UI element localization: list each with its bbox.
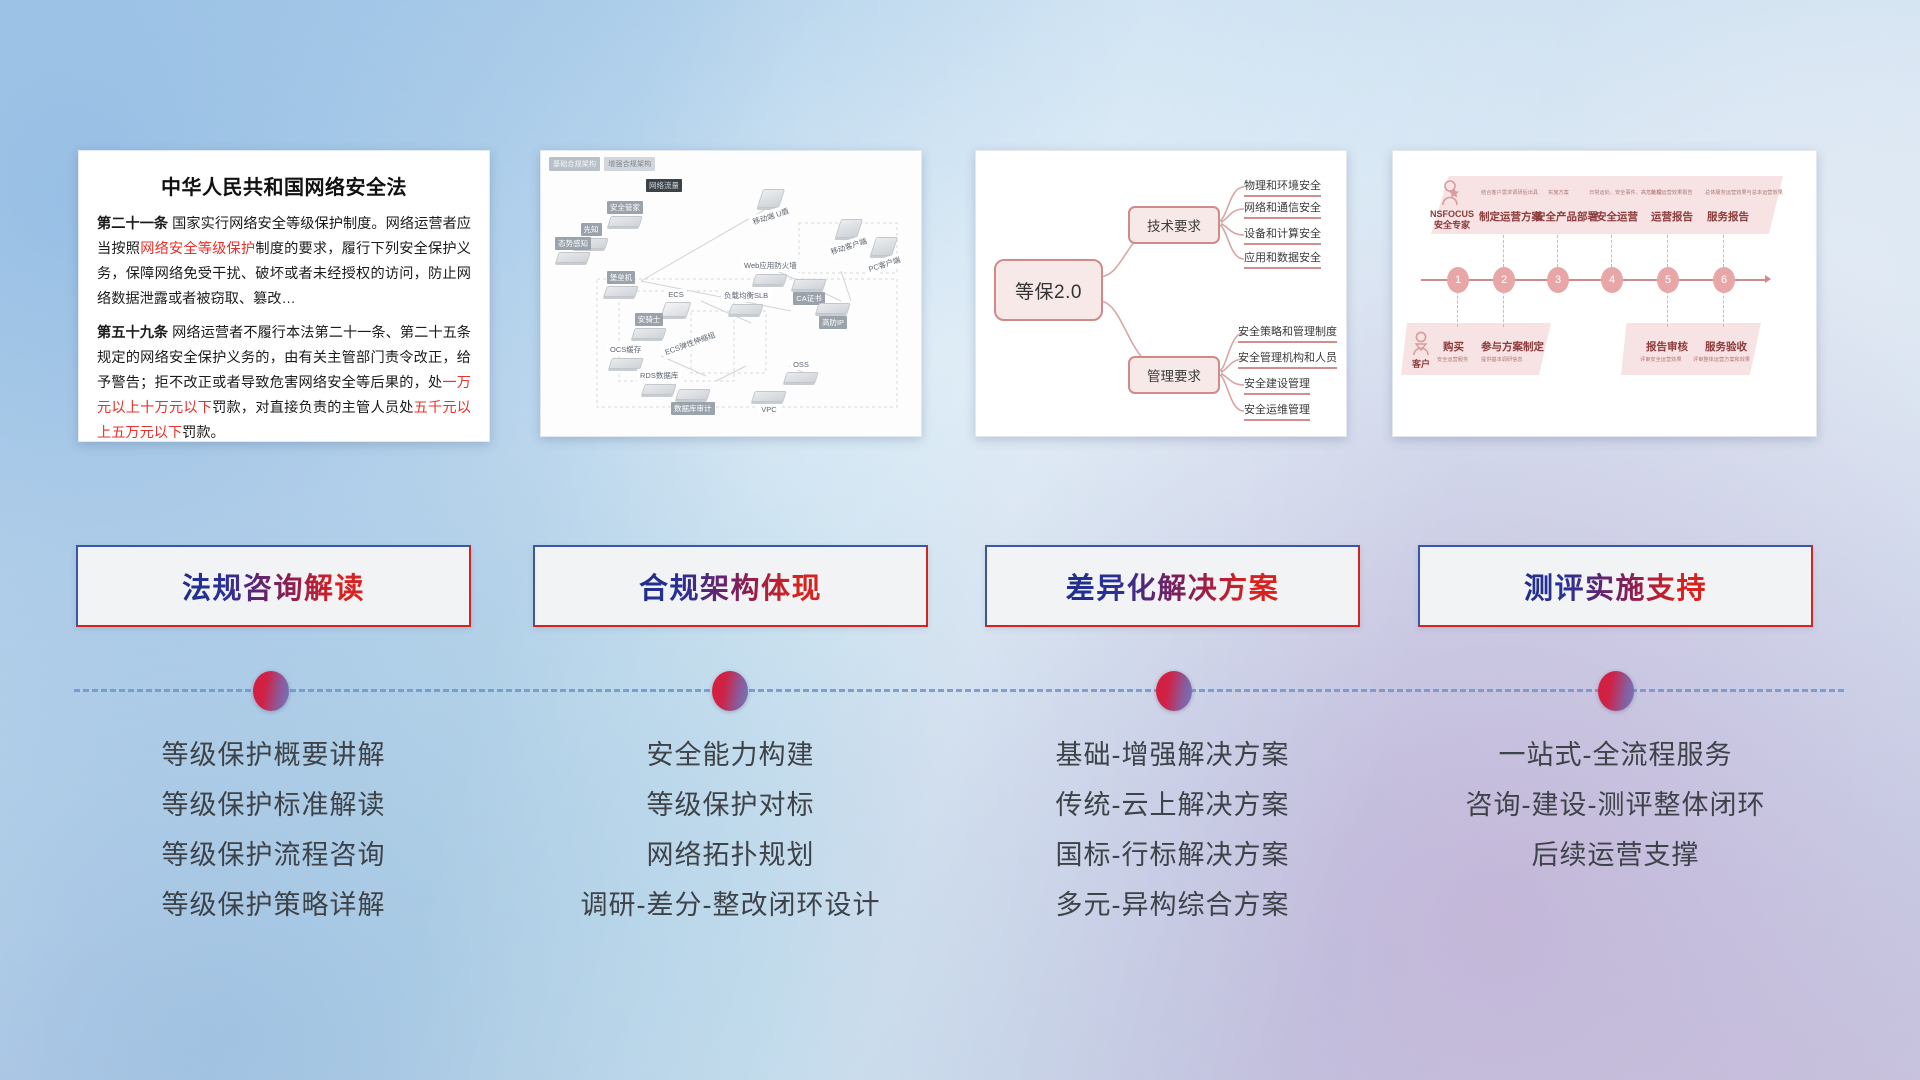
arch-icon-waf (753, 274, 789, 285)
section-heading-differentiated-solution[interactable]: 差异化解决方案 (985, 545, 1360, 627)
mindmap-branch-technical: 技术要求 (1128, 206, 1220, 244)
section-heading-text-3: 差异化解决方案 (1066, 565, 1280, 607)
list-item: 网络拓扑规划 (533, 830, 928, 880)
nsfocus-step-sub-6: 总体服务运营效果与总本运营效果 (1705, 189, 1783, 196)
item-list-regulation-consulting: 等级保护概要讲解 等级保护标准解读 等级保护流程咨询 等级保护策略详解 (76, 730, 471, 930)
list-item: 等级保护流程咨询 (76, 830, 471, 880)
nsfocus-bottom-title-1: 购买 (1443, 339, 1464, 354)
card-cybersecurity-law[interactable]: 中华人民共和国网络安全法 第二十一条 国家实行网络安全等级保护制度。网络运营者应… (78, 150, 490, 442)
nsfocus-expert-band (1431, 176, 1783, 234)
item-list-differentiated-solution: 基础-增强解决方案 传统-云上解决方案 国标-行标解决方案 多元-异构综合方案 (985, 730, 1360, 930)
nsfocus-bottom-title-2: 参与方案制定 (1481, 339, 1544, 354)
nsfocus-step-title-3: 安全产品部署 (1535, 209, 1598, 224)
nsfocus-step-dot-3: 3 (1547, 267, 1569, 293)
nsfocus-step-sub-5: 阶段运营效果报告 (1651, 189, 1693, 196)
arch-node-ca-cert: CA证书 (793, 279, 825, 305)
law-text-body: 中华人民共和国网络安全法 第二十一条 国家实行网络安全等级保护制度。网络运营者应… (79, 151, 489, 441)
nsfocus-connector-6b (1723, 291, 1725, 327)
arch-icon-security-butler (607, 216, 643, 227)
nsfocus-connector-1 (1457, 291, 1459, 327)
arch-label-waf: Web应用防火墙 (741, 259, 800, 272)
list-item: 等级保护概要讲解 (76, 730, 471, 780)
arch-label-db-audit: 数据库审计 (671, 402, 715, 415)
nsfocus-step-dot-2: 2 (1493, 267, 1515, 293)
arch-label-bastion-host: 堡垒机 (607, 271, 636, 284)
nsfocus-connector-5b (1667, 291, 1669, 327)
nsfocus-step-dot-1: 1 (1447, 267, 1469, 293)
arch-node-db-audit: 数据库审计 (671, 389, 715, 415)
list-item: 等级保护标准解读 (76, 780, 471, 830)
arch-node-vpc: VPC (753, 391, 785, 415)
list-item: 等级保护策略详解 (76, 880, 471, 930)
nsfocus-bottom-title-4: 服务验收 (1705, 339, 1747, 354)
timeline-node-1[interactable] (253, 671, 289, 711)
item-list-compliance-architecture: 安全能力构建 等级保护对标 网络拓扑规划 调研-差分-整改闭环设计 (533, 730, 928, 930)
mindmap-leaf-device-compute: 设备和计算安全 (1244, 225, 1321, 245)
law-article-21-t1: 网络安全等级保护 (140, 241, 255, 257)
list-item: 一站式-全流程服务 (1418, 730, 1813, 780)
nsfocus-step-title-4: 安全运营 (1596, 209, 1638, 224)
arch-icon-vpc (751, 391, 787, 402)
section-heading-row: 法规咨询解读 合规架构体现 差异化解决方案 测评实施支持 (0, 545, 1920, 640)
arch-icon-bastion-host (603, 286, 639, 297)
arch-node-mobile-client: 移动客户端 (827, 219, 871, 253)
arch-label-situation-awareness: 态势感知 (555, 237, 591, 250)
expert-role-line2: 安全专家 (1423, 220, 1481, 231)
list-item: 安全能力构建 (533, 730, 928, 780)
architecture-diagram: 基础合规架构 增强合规架构 (541, 151, 921, 436)
nsfocus-bottom-sub-4: 评审整体运营方案和效果 (1693, 356, 1750, 363)
slide-stage: 中华人民共和国网络安全法 第二十一条 国家实行网络安全等级保护制度。网络运营者应… (0, 0, 1920, 1080)
arch-label-anqishi: 安骑士 (635, 313, 664, 326)
section-heading-regulation-consulting[interactable]: 法规咨询解读 (76, 545, 471, 627)
arch-node-anqishi: 安骑士 (633, 313, 665, 339)
section-heading-text-2: 合规架构体现 (639, 565, 822, 607)
timeline-node-2[interactable] (712, 671, 748, 711)
arch-node-network-traffic: 网络流量 (646, 179, 682, 194)
nsfocus-step-title-5: 运营报告 (1651, 209, 1693, 224)
nsfocus-step-sub-2: 结合客户需求调研后出具 (1481, 189, 1538, 196)
nsfocus-bottom-sub-1: 安全运营服务 (1437, 356, 1468, 363)
list-item: 多元-异构综合方案 (985, 880, 1360, 930)
nsfocus-axis-arrow-icon (1765, 275, 1771, 283)
arch-icon-ca-cert (791, 279, 827, 290)
arch-node-anti-ddos-ip: 高防IP (817, 303, 849, 329)
card-nsfocus-timeline[interactable]: NSFOCUS 安全专家 客户 1 2 3 4 5 6 (1392, 150, 1817, 437)
section-heading-compliance-architecture[interactable]: 合规架构体现 (533, 545, 928, 627)
nsfocus-connector-3 (1557, 235, 1559, 267)
law-article-21: 第二十一条 国家实行网络安全等级保护制度。网络运营者应当按照网络安全等级保护制度… (97, 212, 471, 312)
thumbnail-card-row: 中华人民共和国网络安全法 第二十一条 国家实行网络安全等级保护制度。网络运营者应… (0, 150, 1920, 450)
section-heading-evaluation-support[interactable]: 测评实施支持 (1418, 545, 1813, 627)
nsfocus-step-sub-3: 实施方案 (1548, 189, 1569, 196)
mindmap-root-node: 等保2.0 (994, 259, 1103, 321)
mindmap-leaf-policy-system: 安全策略和管理制度 (1238, 323, 1337, 343)
list-item: 咨询-建设-测评整体闭环 (1418, 780, 1813, 830)
list-item: 调研-差分-整改闭环设计 (533, 880, 928, 930)
arch-label-ocs-cache: OCS缓存 (607, 343, 644, 356)
nsfocus-connector-4 (1611, 235, 1613, 267)
nsfocus-bottom-sub-2: 提供基本调研信息 (1481, 356, 1523, 363)
arch-label-slb: 负载均衡SLB (721, 289, 771, 302)
nsfocus-bottom-sub-3: 评审安全运营效果 (1640, 356, 1682, 363)
nsfocus-connector-2 (1503, 235, 1505, 267)
expert-person-icon (1439, 179, 1461, 207)
mindmap-leaf-construction: 安全建设管理 (1244, 375, 1310, 395)
list-item: 国标-行标解决方案 (985, 830, 1360, 880)
item-list-evaluation-support: 一站式-全流程服务 咨询-建设-测评整体闭环 后续运营支撑 (1418, 730, 1813, 880)
arch-icon-ocs-cache (608, 358, 644, 369)
arch-node-pc-client: PC客户端 (865, 237, 904, 271)
mindmap-diagram: 等保2.0 技术要求 管理要求 物理和环境安全 网络和通信安全 设备和计算安全 … (976, 151, 1346, 436)
nsfocus-diagram: NSFOCUS 安全专家 客户 1 2 3 4 5 6 (1393, 151, 1816, 436)
law-title: 中华人民共和国网络安全法 (97, 171, 471, 200)
list-item: 后续运营支撑 (1418, 830, 1813, 880)
arch-node-slb: 负载均衡SLB (721, 289, 771, 315)
list-item: 基础-增强解决方案 (985, 730, 1360, 780)
customer-role-label: 客户 (1407, 359, 1435, 370)
arch-node-situation-awareness: 态势感知 (555, 237, 591, 263)
arch-icon-db-audit (675, 389, 711, 400)
arch-icon-oss (783, 372, 819, 383)
nsfocus-step-title-2: 制定运营方案 (1479, 209, 1542, 224)
arch-icon-anqishi (631, 328, 667, 339)
nsfocus-step-dot-4: 4 (1601, 267, 1623, 293)
section-heading-text-1: 法规咨询解读 (182, 565, 365, 607)
arch-node-oss: OSS (785, 359, 817, 383)
timeline (0, 665, 1920, 715)
nsfocus-connector-2b (1503, 291, 1505, 327)
arch-node-bastion-host: 堡垒机 (605, 271, 637, 297)
card-dengbao-mindmap[interactable]: 等保2.0 技术要求 管理要求 物理和环境安全 网络和通信安全 设备和计算安全 … (975, 150, 1347, 437)
arch-icon-slb (728, 304, 764, 315)
mindmap-leaf-org-personnel: 安全管理机构和人员 (1238, 349, 1337, 369)
arch-label-oss: OSS (790, 359, 812, 370)
arch-label-rds: RDS数据库 (637, 369, 681, 382)
arch-node-waf: Web应用防火墙 (741, 259, 800, 285)
arch-node-ecs: ECS (663, 289, 689, 317)
law-article-59: 第五十九条 网络运营者不履行本法第二十一条、第二十五条规定的网络安全保护义务的，… (97, 321, 471, 442)
expert-role-line1: NSFOCUS (1423, 209, 1481, 220)
timeline-node-4[interactable] (1598, 671, 1634, 711)
mindmap-branch-management: 管理要求 (1128, 356, 1220, 394)
law-article-59-t2: 罚款，对直接负责的主管人员处 (212, 400, 413, 416)
law-article-21-number: 第二十一条 (97, 216, 168, 232)
nsfocus-step-dot-6: 6 (1713, 267, 1735, 293)
nsfocus-step-dot-5: 5 (1657, 267, 1679, 293)
arch-label-anti-ddos-ip: 高防IP (819, 316, 847, 329)
list-item: 传统-云上解决方案 (985, 780, 1360, 830)
nsfocus-step-title-6: 服务报告 (1707, 209, 1749, 224)
arch-node-ocs-cache: OCS缓存 (607, 343, 644, 369)
list-item: 等级保护对标 (533, 780, 928, 830)
card-cloud-architecture[interactable]: 基础合规架构 增强合规架构 (540, 150, 922, 437)
arch-icon-anti-ddos-ip (815, 303, 851, 314)
nsfocus-connector-5 (1667, 235, 1669, 267)
arch-node-security-butler: 安全管家 (607, 201, 643, 227)
customer-person-icon (1411, 331, 1431, 357)
arch-label-xianzhi: 先知 (581, 223, 602, 236)
timeline-dashed-line (74, 689, 1844, 692)
arch-label-network-traffic: 网络流量 (646, 179, 682, 192)
section-heading-text-4: 测评实施支持 (1524, 565, 1707, 607)
nsfocus-connector-6 (1723, 235, 1725, 267)
nsfocus-bottom-title-3: 报告审核 (1646, 339, 1688, 354)
arch-node-mobile-ukey: 移动端 U盾 (749, 189, 793, 223)
expert-role-label: NSFOCUS 安全专家 (1423, 209, 1481, 231)
mindmap-leaf-operation: 安全运维管理 (1244, 401, 1310, 421)
arch-label-ecs: ECS (665, 289, 686, 300)
arch-label-security-butler: 安全管家 (607, 201, 643, 214)
mindmap-leaf-physical-env: 物理和环境安全 (1244, 177, 1321, 197)
law-article-59-number: 第五十九条 (97, 325, 168, 341)
mindmap-leaf-network-comm: 网络和通信安全 (1244, 199, 1321, 219)
section-item-lists: 等级保护概要讲解 等级保护标准解读 等级保护流程咨询 等级保护策略详解 安全能力… (0, 730, 1920, 1030)
timeline-node-3[interactable] (1156, 671, 1192, 711)
arch-icon-ecs (661, 302, 692, 317)
law-article-59-t4: 罚款。 (182, 425, 225, 441)
arch-label-vpc: VPC (758, 404, 779, 415)
mindmap-leaf-app-data: 应用和数据安全 (1244, 249, 1321, 269)
arch-icon-situation-awareness (555, 252, 591, 263)
